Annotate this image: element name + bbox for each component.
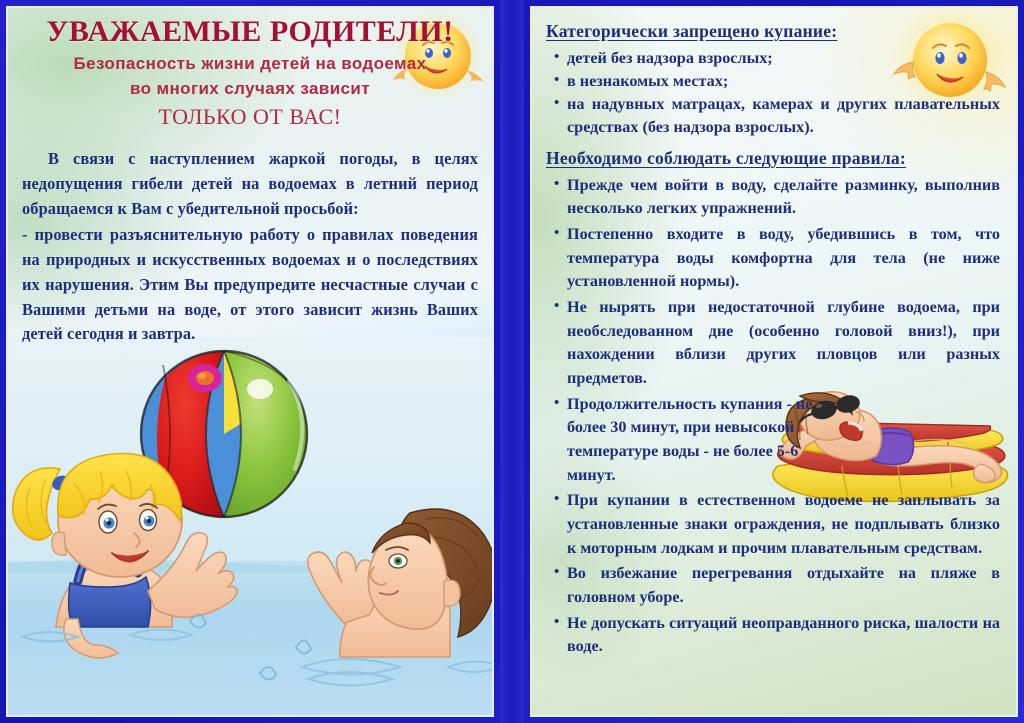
list-item: детей без надзора взрослых; [552, 47, 1000, 70]
section-heading-prohibited: Категорически запрещено купание: [546, 20, 1000, 43]
prohibited-list: детей без надзора взрослых; в незнакомых… [552, 47, 1000, 139]
subtitle-line-3: ТОЛЬКО ОТ ВАС! [22, 103, 478, 131]
intro-paragraph-2: - провести разъяснительную работу о прав… [22, 223, 478, 348]
list-item: При купании в естественном водоеме не за… [552, 489, 1000, 560]
list-item: Продолжительность купания - не более 30 … [552, 393, 834, 488]
left-panel-inner: УВАЖАЕМЫЕ РОДИТЕЛИ! Безопасность жизни д… [6, 6, 494, 717]
section-heading-rules: Необходимо соблюдать следующие правила: [546, 147, 1000, 170]
list-item: на надувных матрацах, камерах и других п… [552, 93, 1000, 139]
right-panel: Категорически запрещено купание: детей б… [524, 0, 1024, 723]
subtitle-line-1: Безопасность жизни детей на водоемах [22, 53, 478, 76]
center-spine-divider [500, 0, 524, 723]
list-item: в незнакомых местах; [552, 70, 1000, 93]
subtitle-line-2: во многих случаях зависит [22, 78, 478, 101]
list-item: Прежде чем войти в воду, сделайте размин… [552, 174, 1000, 221]
ball-valve [188, 364, 222, 392]
right-panel-inner: Категорически запрещено купание: детей б… [530, 6, 1018, 717]
poster-root: УВАЖАЕМЫЕ РОДИТЕЛИ! Безопасность жизни д… [0, 0, 1024, 723]
intro-paragraph-1: В связи с наступлением жаркой погоды, в … [22, 147, 478, 222]
list-item: Не допускать ситуаций неоправданного рис… [552, 612, 1000, 659]
list-item: Во избежание перегревания отдыхайте на п… [552, 562, 1000, 609]
page-title: УВАЖАЕМЫЕ РОДИТЕЛИ! [22, 16, 478, 48]
rules-list: Прежде чем войти в воду, сделайте размин… [552, 174, 1000, 659]
left-text-block: УВАЖАЕМЫЕ РОДИТЕЛИ! Безопасность жизни д… [8, 8, 492, 347]
right-text-block: Категорически запрещено купание: детей б… [532, 8, 1016, 659]
list-item: Постепенно входите в воду, убедившись в … [552, 223, 1000, 294]
list-item: Не нырять при недостаточной глубине водо… [552, 296, 1000, 391]
left-panel: УВАЖАЕМЫЕ РОДИТЕЛИ! Безопасность жизни д… [0, 0, 500, 723]
children-beach-ball-illustration [8, 337, 492, 715]
intro-paragraphs: В связи с наступлением жаркой погоды, в … [22, 147, 478, 348]
